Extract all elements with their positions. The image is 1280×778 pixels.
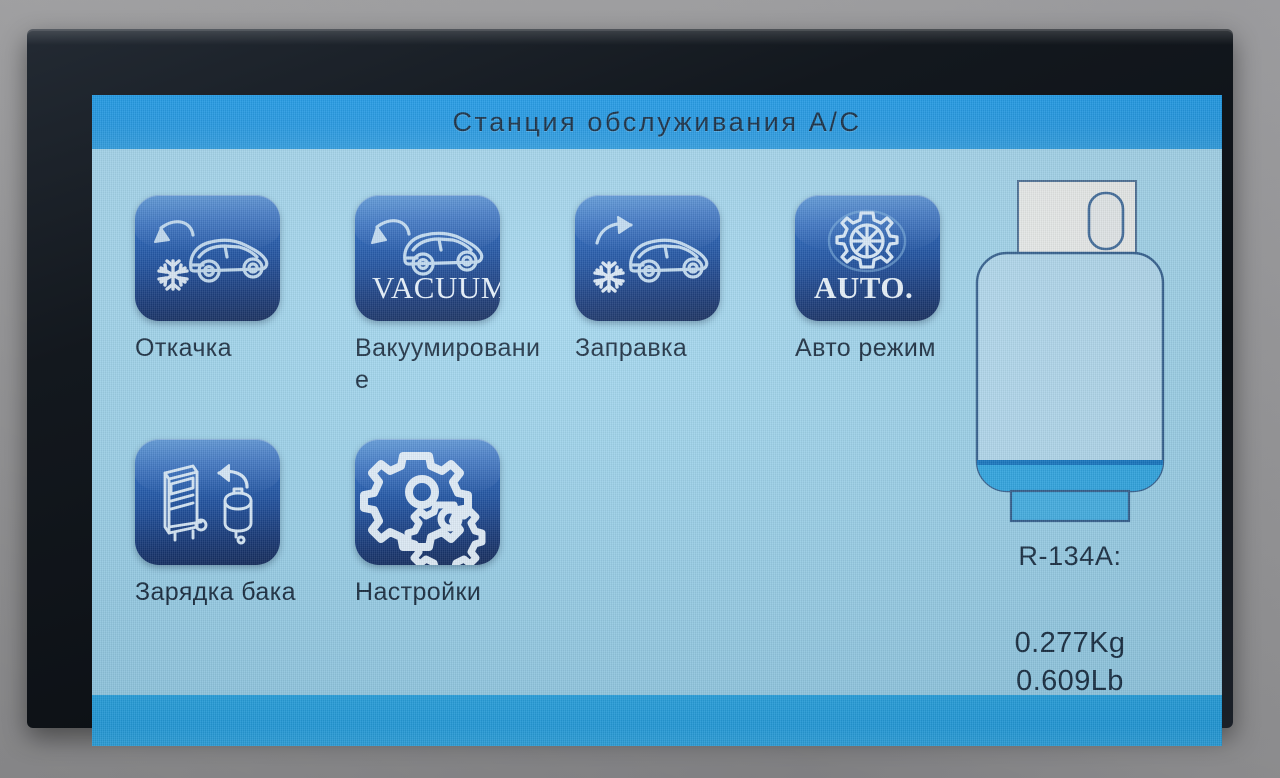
vacuum-tile[interactable]: VACUUM [355, 195, 500, 321]
menu-label-recovery: Откачка [135, 332, 331, 364]
menu-item-recovery[interactable]: Откачка [135, 195, 350, 364]
page-title: Станция обслуживания A/C [452, 107, 861, 138]
auto-badge-text: AUTO. [814, 270, 913, 305]
gears-settings-icon [355, 439, 500, 565]
menu-item-charge[interactable]: Заправка [575, 195, 790, 364]
menu-label-tank-charge: Зарядка бака [135, 576, 331, 608]
refrigerant-tank-icon [963, 175, 1177, 535]
menu-item-settings[interactable]: Настройки [355, 439, 570, 608]
cart-to-tank-arrow-icon [135, 439, 280, 565]
gear-auto-icon: AUTO. [795, 195, 940, 321]
recovery-tile[interactable] [135, 195, 280, 321]
tank-readouts: 0.277Kg 0.609Lb [940, 624, 1200, 700]
lcd-screen: Станция обслуживания A/C [92, 95, 1222, 746]
car-vacuum-arrow-down-icon: VACUUM [355, 195, 500, 321]
menu-label-vacuum: Вакуумирование [355, 332, 551, 396]
menu-label-settings: Настройки [355, 576, 551, 608]
main-content: Откачка [92, 149, 1222, 695]
settings-tile[interactable] [355, 439, 500, 565]
car-snowflake-arrow-up-icon [575, 195, 720, 321]
vacuum-badge-text: VACUUM [372, 270, 500, 305]
menu-item-vacuum[interactable]: VACUUM Вакуумирование [355, 195, 570, 396]
charge-tile[interactable] [575, 195, 720, 321]
auto-tile[interactable]: AUTO. [795, 195, 940, 321]
tank-weight-kg: 0.277Kg [940, 624, 1200, 662]
car-snowflake-arrow-down-icon [135, 195, 280, 321]
refrigerant-tank-panel: R-134A: 0.277Kg 0.609Lb [940, 175, 1200, 700]
refrigerant-type-label: R-134A: [940, 541, 1200, 572]
tank-charge-tile[interactable] [135, 439, 280, 565]
title-bar: Станция обслуживания A/C [92, 95, 1222, 149]
status-bar [92, 695, 1222, 746]
bezel-highlight [27, 29, 1233, 45]
menu-label-charge: Заправка [575, 332, 771, 364]
monitor-bezel: Станция обслуживания A/C [27, 29, 1233, 728]
menu-item-tank-charge[interactable]: Зарядка бака [135, 439, 350, 608]
tank-graphic [963, 175, 1177, 535]
